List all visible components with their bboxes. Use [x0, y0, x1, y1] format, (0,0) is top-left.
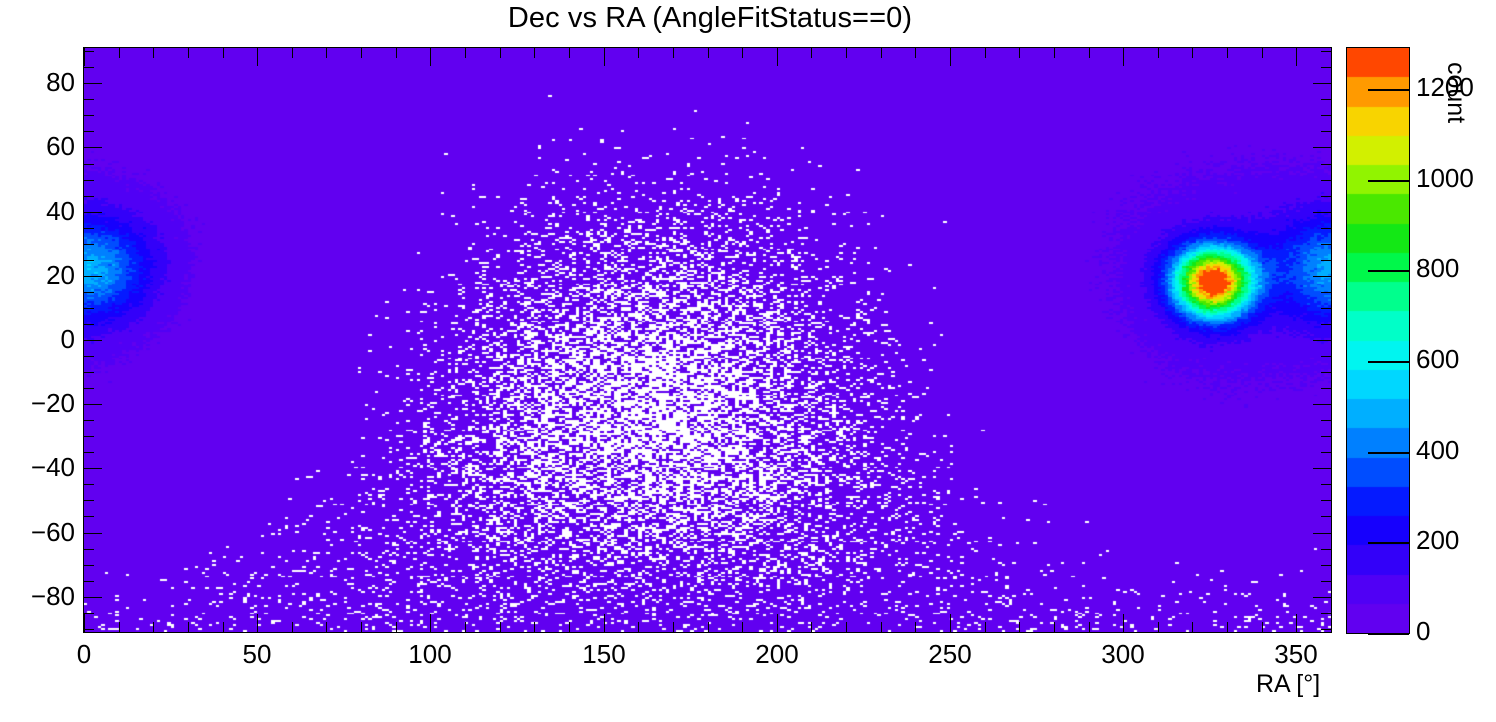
x-minor-tick-top [500, 48, 501, 58]
y-minor-tick [84, 180, 94, 181]
x-axis-title: RA [°] [1256, 670, 1320, 699]
y-minor-tick [84, 629, 94, 630]
y-major-tick [84, 533, 102, 534]
x-minor-tick-top [742, 48, 743, 58]
x-minor-tick-top [915, 48, 916, 58]
x-minor-tick-top [188, 48, 189, 58]
x-minor-tick-top [1158, 48, 1159, 58]
x-tick-label: 150 [544, 639, 664, 670]
y-minor-tick [84, 164, 94, 165]
x-minor-tick-top [292, 48, 293, 58]
y-minor-tick-right [1321, 613, 1331, 614]
y-tick-label: 80 [0, 67, 75, 98]
x-minor-tick [1262, 622, 1263, 632]
x-minor-tick [119, 622, 120, 632]
x-minor-tick [465, 622, 466, 632]
y-major-tick-right [1313, 83, 1331, 84]
x-tick-label: 300 [1063, 639, 1183, 670]
y-minor-tick-right [1321, 308, 1331, 309]
histogram-canvas [84, 48, 1331, 632]
y-major-tick [84, 276, 102, 277]
root-canvas: Dec vs RA (AngleFitStatus==0) declinatio… [0, 0, 1496, 722]
x-minor-tick-top [223, 48, 224, 58]
x-minor-tick-top [396, 48, 397, 58]
y-tick-label: −60 [0, 517, 75, 548]
page-title: Dec vs RA (AngleFitStatus==0) [0, 2, 1420, 35]
y-major-tick [84, 83, 102, 84]
y-minor-tick [84, 99, 94, 100]
plot-frame [83, 47, 1332, 633]
y-minor-tick-right [1321, 131, 1331, 132]
y-minor-tick [84, 260, 94, 261]
x-minor-tick-top [153, 48, 154, 58]
x-minor-tick [153, 622, 154, 632]
y-minor-tick [84, 51, 94, 52]
x-major-tick [950, 614, 951, 632]
color-bar-tick [1368, 180, 1409, 182]
y-major-tick-right [1313, 212, 1331, 213]
color-bar-tick [1368, 452, 1409, 454]
y-minor-tick-right [1321, 196, 1331, 197]
y-major-tick [84, 147, 102, 148]
y-major-tick [84, 340, 102, 341]
x-minor-tick [534, 622, 535, 632]
color-bar-tick-label: 1000 [1416, 163, 1474, 194]
x-minor-tick-top [846, 48, 847, 58]
y-minor-tick [84, 308, 94, 309]
x-minor-tick [396, 622, 397, 632]
y-major-tick [84, 597, 102, 598]
y-minor-tick-right [1321, 565, 1331, 566]
x-minor-tick [223, 622, 224, 632]
x-minor-tick [708, 622, 709, 632]
color-bar-tick-label: 200 [1416, 525, 1459, 556]
y-minor-tick [84, 452, 94, 453]
color-bar-tick [1368, 542, 1409, 544]
x-minor-tick-top [326, 48, 327, 58]
x-major-tick [777, 614, 778, 632]
x-major-tick-top [257, 48, 258, 66]
color-bar-tick [1368, 270, 1409, 272]
x-minor-tick [811, 622, 812, 632]
y-minor-tick-right [1321, 388, 1331, 389]
x-minor-tick [1019, 622, 1020, 632]
x-minor-tick [915, 622, 916, 632]
y-minor-tick [84, 228, 94, 229]
x-minor-tick-top [119, 48, 120, 58]
x-minor-tick-top [534, 48, 535, 58]
x-major-tick-top [950, 48, 951, 66]
y-minor-tick [84, 549, 94, 550]
x-minor-tick [188, 622, 189, 632]
y-tick-label: −80 [0, 581, 75, 612]
x-major-tick [430, 614, 431, 632]
y-minor-tick-right [1321, 244, 1331, 245]
y-minor-tick-right [1321, 115, 1331, 116]
x-minor-tick-top [1089, 48, 1090, 58]
y-minor-tick [84, 613, 94, 614]
y-minor-tick [84, 484, 94, 485]
y-minor-tick [84, 356, 94, 357]
y-minor-tick [84, 388, 94, 389]
y-minor-tick-right [1321, 324, 1331, 325]
color-bar [1346, 47, 1410, 634]
y-minor-tick-right [1321, 67, 1331, 68]
color-bar-tick [1368, 361, 1409, 363]
x-minor-tick-top [638, 48, 639, 58]
y-minor-tick [84, 131, 94, 132]
y-minor-tick [84, 372, 94, 373]
y-minor-tick-right [1321, 292, 1331, 293]
x-major-tick [1123, 614, 1124, 632]
y-tick-label: 60 [0, 131, 75, 162]
y-minor-tick-right [1321, 581, 1331, 582]
color-bar-canvas [1347, 48, 1409, 633]
y-minor-tick-right [1321, 99, 1331, 100]
x-minor-tick [638, 622, 639, 632]
y-minor-tick [84, 565, 94, 566]
y-minor-tick [84, 244, 94, 245]
x-major-tick [604, 614, 605, 632]
y-minor-tick [84, 581, 94, 582]
x-minor-tick-top [1331, 48, 1332, 58]
y-minor-tick-right [1321, 228, 1331, 229]
x-major-tick-top [430, 48, 431, 66]
y-major-tick-right [1313, 276, 1331, 277]
x-major-tick [257, 614, 258, 632]
y-minor-tick [84, 500, 94, 501]
y-minor-tick-right [1321, 549, 1331, 550]
x-major-tick-top [604, 48, 605, 66]
y-minor-tick-right [1321, 420, 1331, 421]
x-minor-tick [673, 622, 674, 632]
color-bar-tick [1368, 633, 1409, 635]
y-major-tick-right [1313, 340, 1331, 341]
color-bar-tick-label: 400 [1416, 435, 1459, 466]
color-bar-tick-label: 1200 [1416, 72, 1474, 103]
y-minor-tick [84, 516, 94, 517]
x-major-tick [1296, 614, 1297, 632]
y-tick-label: 0 [0, 324, 75, 355]
x-minor-tick [1331, 622, 1332, 632]
x-minor-tick-top [811, 48, 812, 58]
x-minor-tick [1227, 622, 1228, 632]
x-tick-label: 50 [197, 639, 317, 670]
y-major-tick [84, 468, 102, 469]
x-minor-tick [500, 622, 501, 632]
x-tick-label: 350 [1236, 639, 1356, 670]
y-minor-tick-right [1321, 51, 1331, 52]
y-minor-tick [84, 420, 94, 421]
y-minor-tick [84, 292, 94, 293]
x-major-tick-top [1296, 48, 1297, 66]
y-minor-tick-right [1321, 260, 1331, 261]
y-major-tick-right [1313, 597, 1331, 598]
y-minor-tick-right [1321, 180, 1331, 181]
x-minor-tick-top [1192, 48, 1193, 58]
color-bar-tick-label: 0 [1416, 616, 1430, 647]
x-minor-tick [881, 622, 882, 632]
x-minor-tick [742, 622, 743, 632]
x-minor-tick-top [1054, 48, 1055, 58]
y-minor-tick-right [1321, 516, 1331, 517]
color-bar-tick-label: 800 [1416, 253, 1459, 284]
y-minor-tick-right [1321, 484, 1331, 485]
color-bar-tick-label: 600 [1416, 344, 1459, 375]
x-minor-tick-top [1227, 48, 1228, 58]
y-minor-tick-right [1321, 436, 1331, 437]
y-major-tick [84, 212, 102, 213]
x-major-tick-top [777, 48, 778, 66]
x-tick-label: 200 [717, 639, 837, 670]
y-tick-label: −20 [0, 388, 75, 419]
y-tick-label: −40 [0, 452, 75, 483]
y-major-tick-right [1313, 404, 1331, 405]
x-minor-tick-top [361, 48, 362, 58]
color-bar-tick [1368, 89, 1409, 91]
x-minor-tick [361, 622, 362, 632]
y-minor-tick-right [1321, 629, 1331, 630]
x-minor-tick-top [569, 48, 570, 58]
y-major-tick-right [1313, 468, 1331, 469]
x-tick-label: 250 [890, 639, 1010, 670]
x-minor-tick-top [985, 48, 986, 58]
y-minor-tick [84, 67, 94, 68]
x-tick-label: 0 [24, 639, 144, 670]
y-minor-tick-right [1321, 356, 1331, 357]
x-minor-tick-top [673, 48, 674, 58]
y-tick-label: 20 [0, 260, 75, 291]
x-minor-tick-top [1019, 48, 1020, 58]
x-minor-tick [1192, 622, 1193, 632]
x-minor-tick [569, 622, 570, 632]
y-major-tick-right [1313, 147, 1331, 148]
x-minor-tick [846, 622, 847, 632]
y-minor-tick-right [1321, 500, 1331, 501]
x-minor-tick-top [465, 48, 466, 58]
y-major-tick-right [1313, 533, 1331, 534]
y-minor-tick-right [1321, 164, 1331, 165]
y-minor-tick [84, 196, 94, 197]
x-minor-tick-top [1262, 48, 1263, 58]
y-major-tick [84, 404, 102, 405]
x-minor-tick [1054, 622, 1055, 632]
x-minor-tick [985, 622, 986, 632]
x-major-tick-top [1123, 48, 1124, 66]
y-minor-tick [84, 436, 94, 437]
x-minor-tick [1089, 622, 1090, 632]
y-minor-tick [84, 115, 94, 116]
y-minor-tick-right [1321, 452, 1331, 453]
x-minor-tick-top [881, 48, 882, 58]
y-tick-label: 40 [0, 196, 75, 227]
y-minor-tick [84, 324, 94, 325]
x-minor-tick [292, 622, 293, 632]
y-minor-tick-right [1321, 372, 1331, 373]
x-minor-tick [1158, 622, 1159, 632]
x-minor-tick-top [708, 48, 709, 58]
x-tick-label: 100 [370, 639, 490, 670]
x-minor-tick [326, 622, 327, 632]
